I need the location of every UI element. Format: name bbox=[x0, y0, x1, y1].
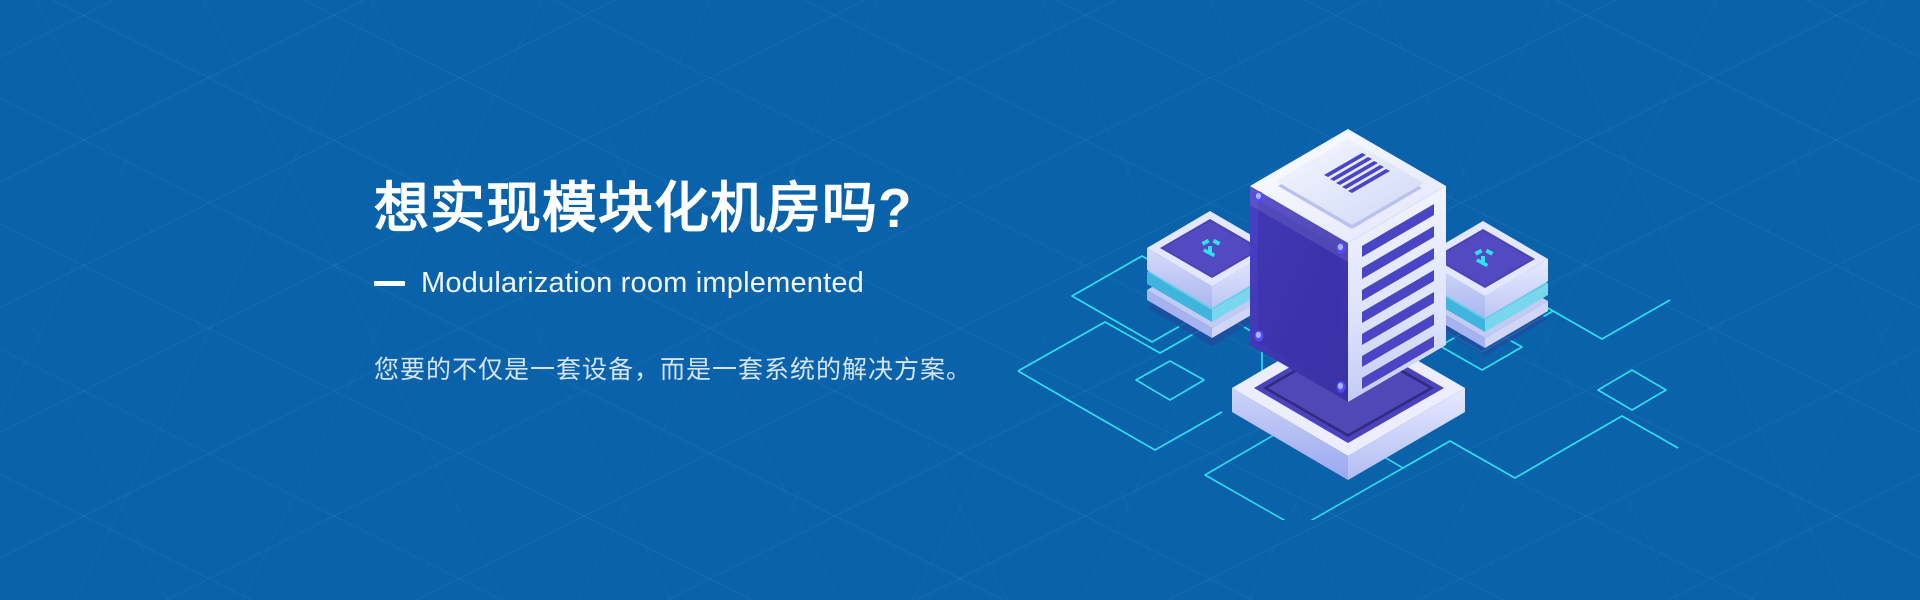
banner-body-text: 您要的不仅是一套设备，而是一套系统的解决方案。 bbox=[374, 350, 1094, 386]
banner-copy-block: 想实现模块化机房吗? Modularization room implement… bbox=[374, 178, 1094, 386]
banner-subtitle-row: Modularization room implemented bbox=[374, 267, 1094, 300]
banner-subtitle: Modularization room implemented bbox=[421, 267, 864, 300]
dash-accent-icon bbox=[374, 281, 405, 286]
isometric-data-center-illustration bbox=[1010, 90, 1680, 520]
banner-headline: 想实现模块化机房吗? bbox=[374, 178, 1094, 240]
server-rack-tower bbox=[1232, 129, 1465, 480]
hero-banner: 想实现模块化机房吗? Modularization room implement… bbox=[0, 0, 1920, 600]
